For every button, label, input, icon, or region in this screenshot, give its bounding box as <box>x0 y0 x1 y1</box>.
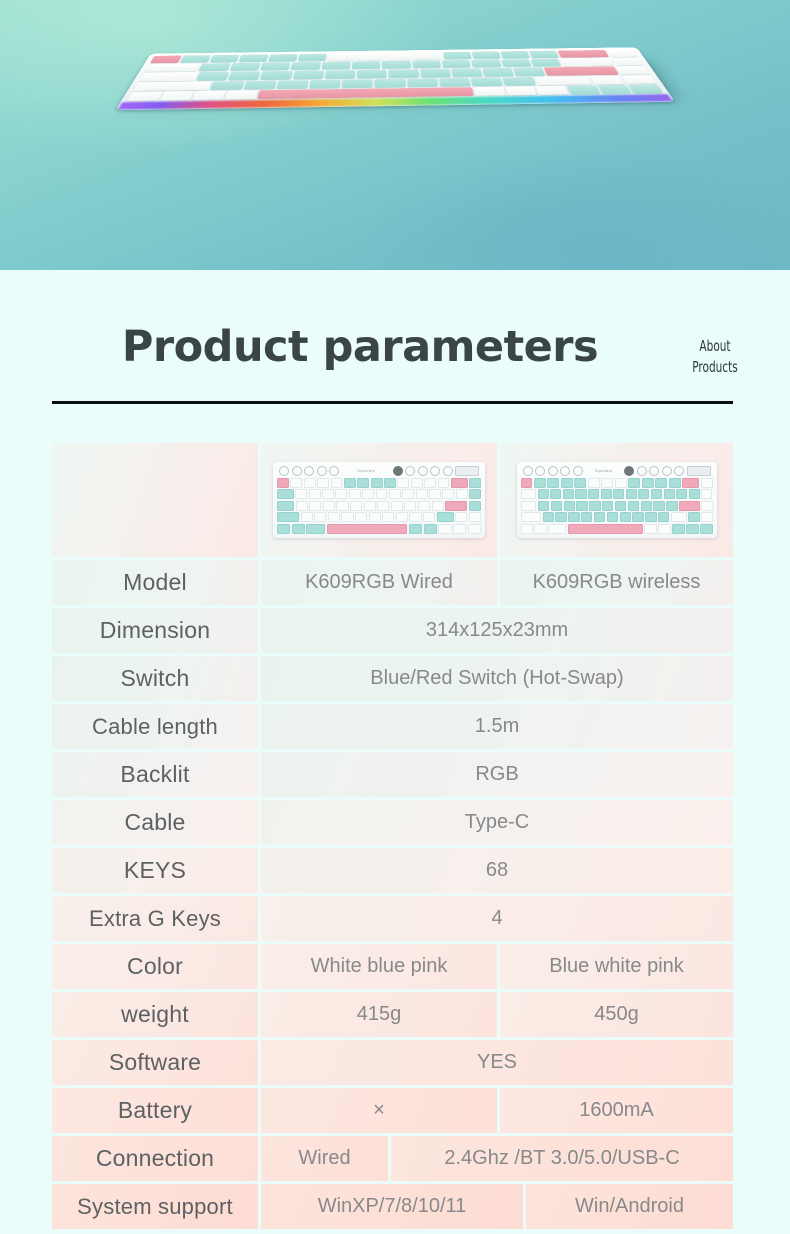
row-label: Switch <box>52 656 258 701</box>
row-label: Connection <box>52 1136 258 1181</box>
row-label: System support <box>52 1184 258 1229</box>
row-value-left: WinXP/7/8/10/11 <box>261 1184 523 1229</box>
row-value-merged: Type-C <box>261 800 733 845</box>
row-label: Battery <box>52 1088 258 1133</box>
row-value-merged: 4 <box>261 896 733 941</box>
table-row: Model K609RGB Wired K609RGB wireless <box>52 560 733 605</box>
row-value-left: 415g <box>261 992 497 1037</box>
row-value-right: 450g <box>500 992 733 1037</box>
row-value-right: 2.4Ghz /BT 3.0/5.0/USB-C <box>391 1136 733 1181</box>
row-label: Cable length <box>52 704 258 749</box>
row-value-right: Win/Android <box>526 1184 733 1229</box>
table-row: Cable Type-C <box>52 800 733 845</box>
table-row-product-images: Topshark <box>52 443 733 557</box>
table-row: Backlit RGB <box>52 752 733 797</box>
hero-keyboard <box>115 47 675 110</box>
hero-keycap-grid <box>127 50 663 101</box>
hero-shadow-glow <box>356 149 790 271</box>
row-label: Color <box>52 944 258 989</box>
table-row: System support WinXP/7/8/10/11 Win/Andro… <box>52 1184 733 1229</box>
about-products-line2: Products <box>681 357 748 378</box>
row-value-right: Blue white pink <box>500 944 733 989</box>
row-value-right: K609RGB wireless <box>500 560 733 605</box>
table-row: Cable length 1.5m <box>52 704 733 749</box>
table-row: Switch Blue/Red Switch (Hot-Swap) <box>52 656 733 701</box>
row-label: Model <box>52 560 258 605</box>
row-value-merged: YES <box>261 1040 733 1085</box>
row-value-left: × <box>261 1088 497 1133</box>
wireless-keyboard-thumbnail: Topshark <box>517 462 717 538</box>
table-row: weight 415g 450g <box>52 992 733 1037</box>
row-label: Extra G Keys <box>52 896 258 941</box>
spec-table: Topshark <box>52 443 733 1232</box>
row-value-merged: 314x125x23mm <box>261 608 733 653</box>
row-label: Software <box>52 1040 258 1085</box>
table-row: Extra G Keys 4 <box>52 896 733 941</box>
page-title: Product parameters <box>0 322 790 372</box>
row-value-merged: 68 <box>261 848 733 893</box>
row-label: Backlit <box>52 752 258 797</box>
row-label: Cable <box>52 800 258 845</box>
product-image-row-label-cell <box>52 443 258 557</box>
row-value-left: White blue pink <box>261 944 497 989</box>
title-section: Product parameters About Products <box>0 270 790 440</box>
row-label: weight <box>52 992 258 1037</box>
about-products-note: About Products <box>681 336 748 378</box>
row-label: KEYS <box>52 848 258 893</box>
row-value-merged: 1.5m <box>261 704 733 749</box>
product-image-cell-wired: Topshark <box>261 443 497 557</box>
hero-keyboard-body <box>115 47 675 110</box>
wired-keyboard-thumbnail: Topshark <box>273 462 485 538</box>
hero-product-photo <box>0 0 790 270</box>
row-value-left: K609RGB Wired <box>261 560 497 605</box>
row-value-merged: RGB <box>261 752 733 797</box>
table-row: Connection Wired 2.4Ghz /BT 3.0/5.0/USB-… <box>52 1136 733 1181</box>
title-divider <box>52 401 733 404</box>
table-row: Color White blue pink Blue white pink <box>52 944 733 989</box>
table-row: Battery × 1600mA <box>52 1088 733 1133</box>
table-row: Software YES <box>52 1040 733 1085</box>
row-value-merged: Blue/Red Switch (Hot-Swap) <box>261 656 733 701</box>
product-image-cell-wireless: Topshark <box>500 443 733 557</box>
thumbnail-brand-text: Topshark <box>356 468 375 473</box>
thumbnail-brand-text-2: Topshark <box>594 468 613 473</box>
row-value-right: 1600mA <box>500 1088 733 1133</box>
about-products-line1: About <box>681 336 748 357</box>
row-label: Dimension <box>52 608 258 653</box>
table-row: Dimension 314x125x23mm <box>52 608 733 653</box>
table-row: KEYS 68 <box>52 848 733 893</box>
row-value-left: Wired <box>261 1136 388 1181</box>
